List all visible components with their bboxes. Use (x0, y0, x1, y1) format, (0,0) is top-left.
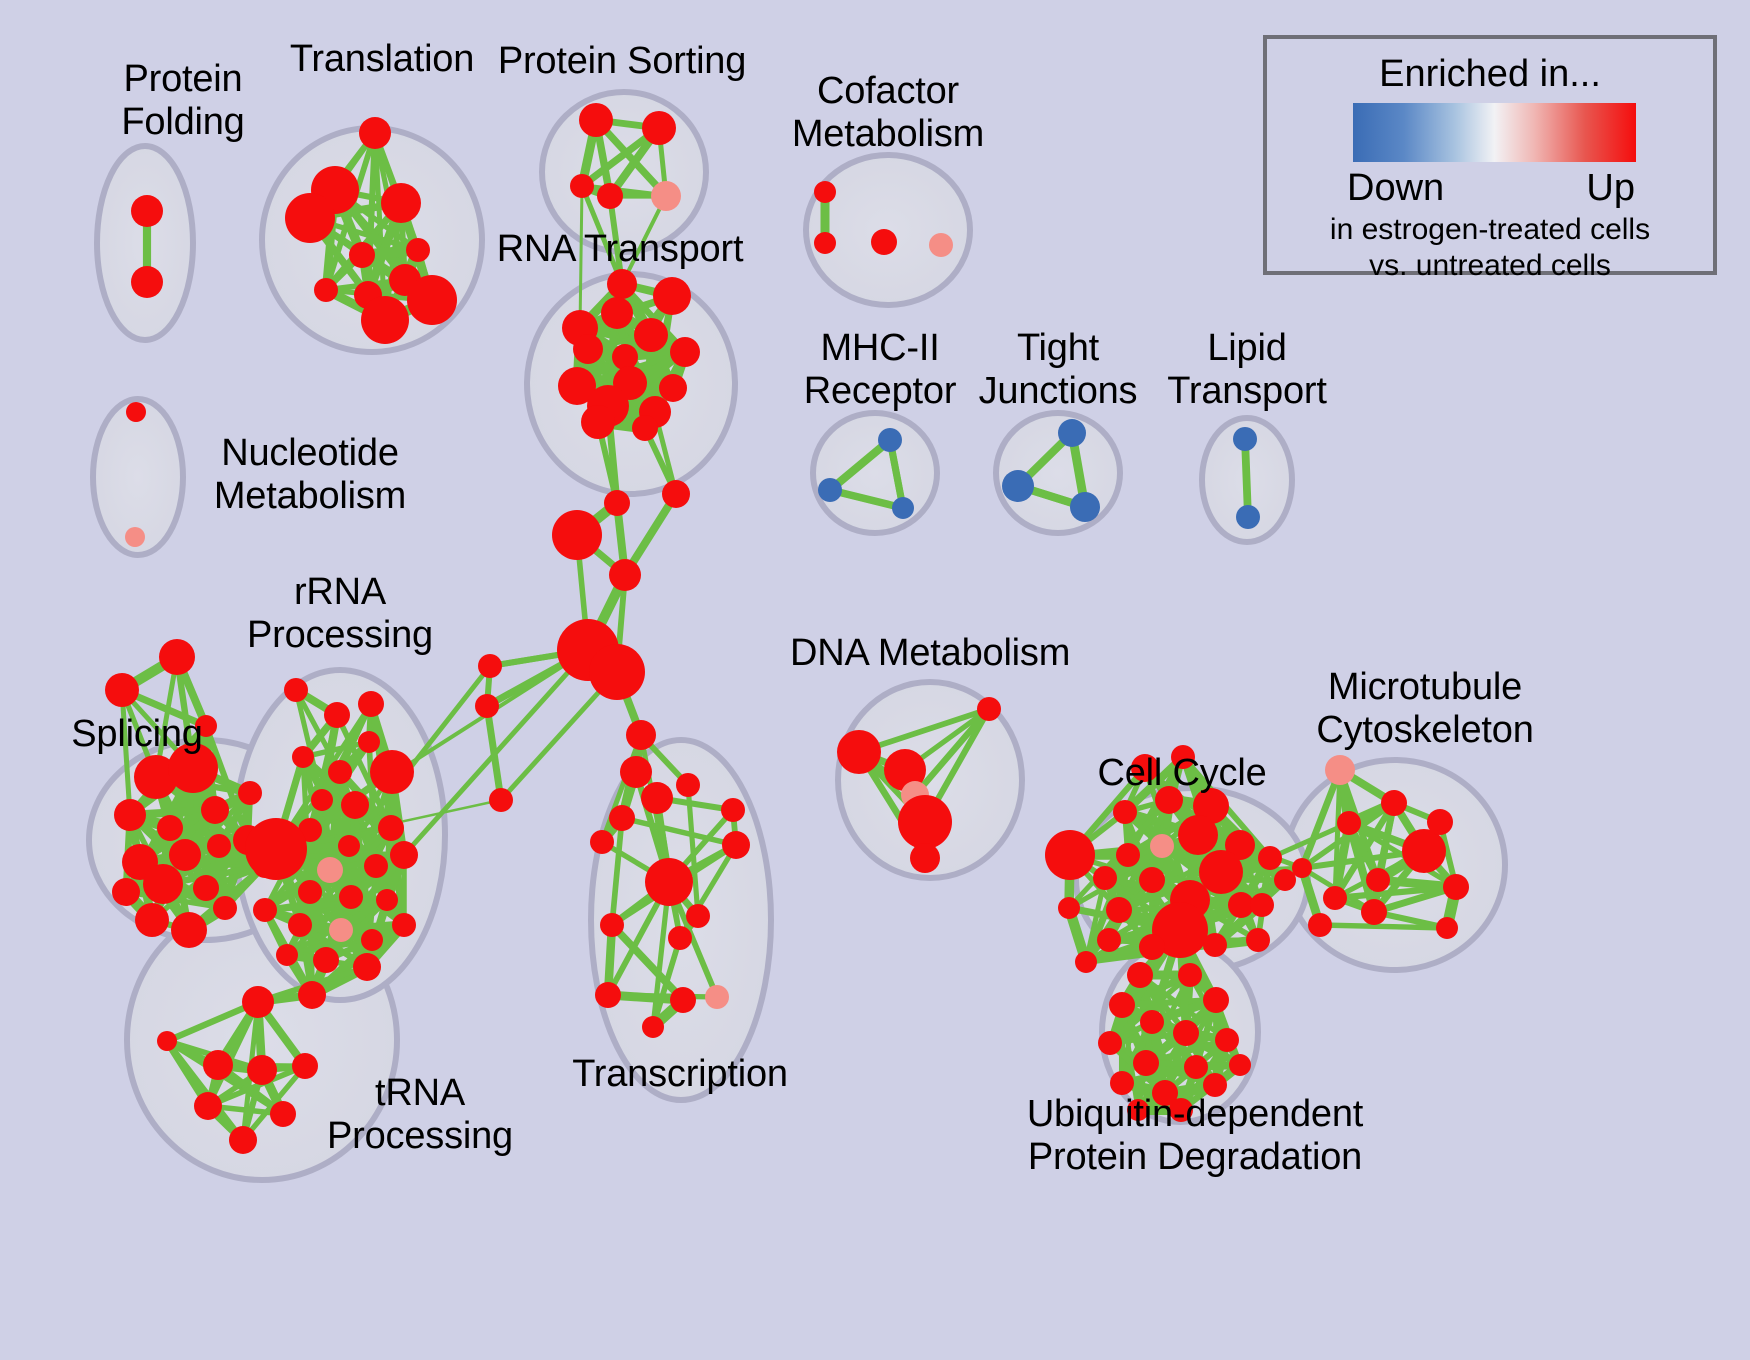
cluster-label-rrna-processing: rRNAProcessing (240, 571, 440, 656)
network-node (253, 898, 277, 922)
cluster-label-rna-transport: RNA Transport (495, 228, 745, 271)
network-node (324, 702, 350, 728)
cluster-label-protein-folding: ProteinFolding (83, 58, 283, 143)
network-node (581, 405, 615, 439)
network-node (1215, 1028, 1239, 1052)
network-node (213, 896, 237, 920)
network-node (1173, 1020, 1199, 1046)
network-node (1098, 1031, 1122, 1055)
network-node (721, 798, 745, 822)
network-node (238, 781, 262, 805)
network-node (159, 639, 195, 675)
network-node (1366, 868, 1390, 892)
network-node (1325, 755, 1355, 785)
network-node (1184, 1055, 1208, 1079)
network-node (370, 750, 414, 794)
network-node (641, 782, 673, 814)
network-node (489, 788, 513, 812)
network-node (1093, 866, 1117, 890)
network-node (475, 694, 499, 718)
network-node (285, 193, 335, 243)
network-node (612, 344, 638, 370)
network-node (381, 183, 421, 223)
label-line: Lipid (1207, 327, 1286, 369)
label-line: Metabolism (214, 475, 406, 517)
network-node (1233, 427, 1257, 451)
legend-subtitle-line1: in estrogen-treated cells (1267, 213, 1713, 247)
network-node (126, 402, 146, 422)
network-node (878, 428, 902, 452)
network-node (620, 756, 652, 788)
network-node (1203, 987, 1229, 1013)
network-node (1045, 830, 1095, 880)
network-figure: ProteinFolding Translation Protein Sorti… (0, 0, 1750, 1360)
network-node (157, 815, 183, 841)
network-node (338, 835, 360, 857)
network-node (1058, 897, 1080, 919)
network-node (653, 277, 691, 315)
network-node (378, 815, 404, 841)
network-node (270, 1101, 296, 1127)
network-node (686, 904, 710, 928)
cluster-label-microtubule-cytoskeleton: MicrotubuleCytoskeleton (1300, 666, 1550, 751)
network-node (157, 1031, 177, 1051)
network-node (1150, 834, 1174, 858)
cluster-label-splicing: Splicing (52, 713, 222, 756)
network-node (143, 864, 183, 904)
network-node (1127, 962, 1153, 988)
network-node (288, 913, 312, 937)
network-node (298, 981, 326, 1009)
network-node (670, 987, 696, 1013)
network-node (814, 181, 836, 203)
network-node (358, 691, 384, 717)
network-node (276, 944, 298, 966)
network-node (328, 760, 352, 784)
label-line: Nucleotide (221, 432, 399, 474)
network-node (1139, 934, 1165, 960)
cluster-label-protein-sorting: Protein Sorting (488, 40, 756, 83)
network-node (361, 296, 409, 344)
label-line: Junctions (979, 370, 1138, 412)
network-node (651, 181, 681, 211)
network-node (898, 795, 952, 849)
network-node (1203, 933, 1227, 957)
label-line: Tight (1017, 327, 1099, 369)
network-node (607, 269, 637, 299)
network-node (406, 238, 430, 262)
network-node (590, 830, 614, 854)
network-node (676, 773, 700, 797)
network-node (313, 947, 339, 973)
network-node (1236, 505, 1260, 529)
network-node (131, 195, 163, 227)
label-line: tRNA (375, 1072, 465, 1114)
network-node (1116, 843, 1140, 867)
network-node (242, 986, 274, 1018)
network-node (604, 490, 630, 516)
network-node (1308, 913, 1332, 937)
network-node (1427, 809, 1453, 835)
network-node (668, 926, 692, 950)
label-line: Protein Degradation (1028, 1136, 1362, 1178)
network-node (929, 233, 953, 257)
label-line: Cytoskeleton (1316, 709, 1533, 751)
network-node (349, 242, 375, 268)
label-line: Metabolism (792, 113, 984, 155)
network-node (1337, 811, 1361, 835)
network-node (135, 903, 169, 937)
legend-title: Enriched in... (1267, 53, 1713, 96)
label-line: Folding (121, 101, 244, 143)
network-node (314, 278, 338, 302)
network-node (364, 854, 388, 878)
cluster-label-cell-cycle: Cell Cycle (1082, 752, 1282, 795)
network-edge (608, 995, 717, 997)
network-node (600, 913, 624, 937)
network-node (229, 1126, 257, 1154)
network-node (247, 1055, 277, 1085)
network-node (341, 791, 369, 819)
network-node (642, 111, 676, 145)
cluster-label-transcription: Transcription (565, 1053, 795, 1096)
cluster-label-nucleotide-metabolism: NucleotideMetabolism (200, 432, 420, 517)
legend-color-gradient-bar (1353, 103, 1636, 162)
network-node (892, 497, 914, 519)
network-node (112, 878, 140, 906)
network-edge (1320, 925, 1447, 928)
cluster-label-trna-processing: tRNAProcessing (310, 1072, 530, 1157)
network-node (201, 796, 229, 824)
network-node (670, 337, 700, 367)
cluster-label-ubiquitin-degradation: Ubiquitin-dependentProtein Degradation (1010, 1093, 1380, 1178)
network-node (1199, 850, 1243, 894)
cluster-label-tight-junctions: TightJunctions (968, 327, 1148, 412)
network-node (114, 799, 146, 831)
network-node (392, 913, 416, 937)
network-node (298, 880, 322, 904)
network-node (1110, 1071, 1134, 1095)
network-node (1097, 928, 1121, 952)
network-node (1109, 992, 1135, 1018)
network-node (626, 720, 656, 750)
label-line: Processing (327, 1115, 513, 1157)
cluster-label-dna-metabolism: DNA Metabolism (790, 632, 1070, 675)
network-node (1229, 1054, 1251, 1076)
network-node (1002, 470, 1034, 502)
network-node (478, 654, 502, 678)
network-node (376, 889, 398, 911)
label-line: rRNA (294, 571, 386, 613)
network-node (1178, 815, 1218, 855)
network-node (407, 275, 457, 325)
network-node (705, 985, 729, 1009)
legend-box: Enriched in... Down Up in estrogen-treat… (1263, 35, 1717, 275)
network-node (1361, 899, 1387, 925)
network-node (595, 982, 621, 1008)
network-node (570, 174, 594, 198)
network-node (632, 415, 658, 441)
network-node (193, 875, 219, 901)
network-node (169, 839, 201, 871)
label-line: Receptor (804, 370, 957, 412)
network-node (910, 843, 940, 873)
hull-mhc-ii-receptor (813, 413, 937, 533)
network-node (1436, 917, 1458, 939)
network-node (339, 885, 363, 909)
network-node (317, 857, 343, 883)
network-node (662, 480, 690, 508)
network-node (1402, 829, 1446, 873)
network-node (311, 789, 333, 811)
network-node (194, 1092, 222, 1120)
network-node (977, 697, 1001, 721)
network-node (329, 918, 353, 942)
network-node (1381, 790, 1407, 816)
network-node (871, 229, 897, 255)
network-node (358, 731, 380, 753)
cluster-label-translation: Translation (282, 38, 482, 81)
label-line: Protein (123, 58, 242, 100)
network-node (1274, 869, 1296, 891)
network-node (645, 858, 693, 906)
label-line: Transport (1167, 370, 1326, 412)
network-node (390, 841, 418, 869)
network-node (1258, 846, 1282, 870)
network-node (1140, 1010, 1164, 1034)
network-node (105, 673, 139, 707)
legend-subtitle-line2: vs. untreated cells (1267, 249, 1713, 283)
network-node (818, 478, 842, 502)
network-node (203, 1050, 233, 1080)
network-node (589, 644, 645, 700)
label-line: Microtubule (1328, 666, 1522, 708)
network-node (353, 953, 381, 981)
legend-low-label: Down (1347, 167, 1444, 210)
network-node (722, 831, 750, 859)
network-node (597, 183, 623, 209)
network-node (837, 730, 881, 774)
network-node (1113, 800, 1137, 824)
cluster-label-cofactor-metabolism: CofactorMetabolism (788, 70, 988, 155)
network-node (1070, 492, 1100, 522)
network-node (245, 818, 307, 880)
network-node (292, 746, 314, 768)
network-node (1058, 419, 1086, 447)
network-node (125, 527, 145, 547)
network-node (171, 912, 207, 948)
label-line: MHC-II (820, 327, 939, 369)
network-node (579, 103, 613, 137)
label-line: Cofactor (817, 70, 959, 112)
network-node (601, 297, 633, 329)
label-line: Processing (247, 614, 433, 656)
network-node (1323, 886, 1347, 910)
network-node (207, 834, 231, 858)
network-node (642, 1016, 664, 1038)
network-node (1250, 893, 1274, 917)
network-node (1443, 874, 1469, 900)
network-node (284, 678, 308, 702)
cluster-label-mhc-ii-receptor: MHC-IIReceptor (790, 327, 970, 412)
network-node (1075, 951, 1097, 973)
network-node (1178, 963, 1202, 987)
network-node (609, 805, 635, 831)
network-node (1246, 928, 1270, 952)
network-node (361, 929, 383, 951)
network-node (659, 374, 687, 402)
network-node (1106, 897, 1132, 923)
cluster-label-lipid-transport: LipidTransport (1157, 327, 1337, 412)
network-node (552, 510, 602, 560)
legend-high-label: Up (1586, 167, 1635, 210)
network-node (814, 232, 836, 254)
network-node (131, 266, 163, 298)
network-node (634, 318, 668, 352)
network-node (1139, 867, 1165, 893)
network-node (1292, 858, 1312, 878)
network-node (609, 559, 641, 591)
network-node (359, 117, 391, 149)
network-node (573, 334, 603, 364)
label-line: Ubiquitin-dependent (1027, 1093, 1363, 1135)
network-node (1133, 1050, 1159, 1076)
